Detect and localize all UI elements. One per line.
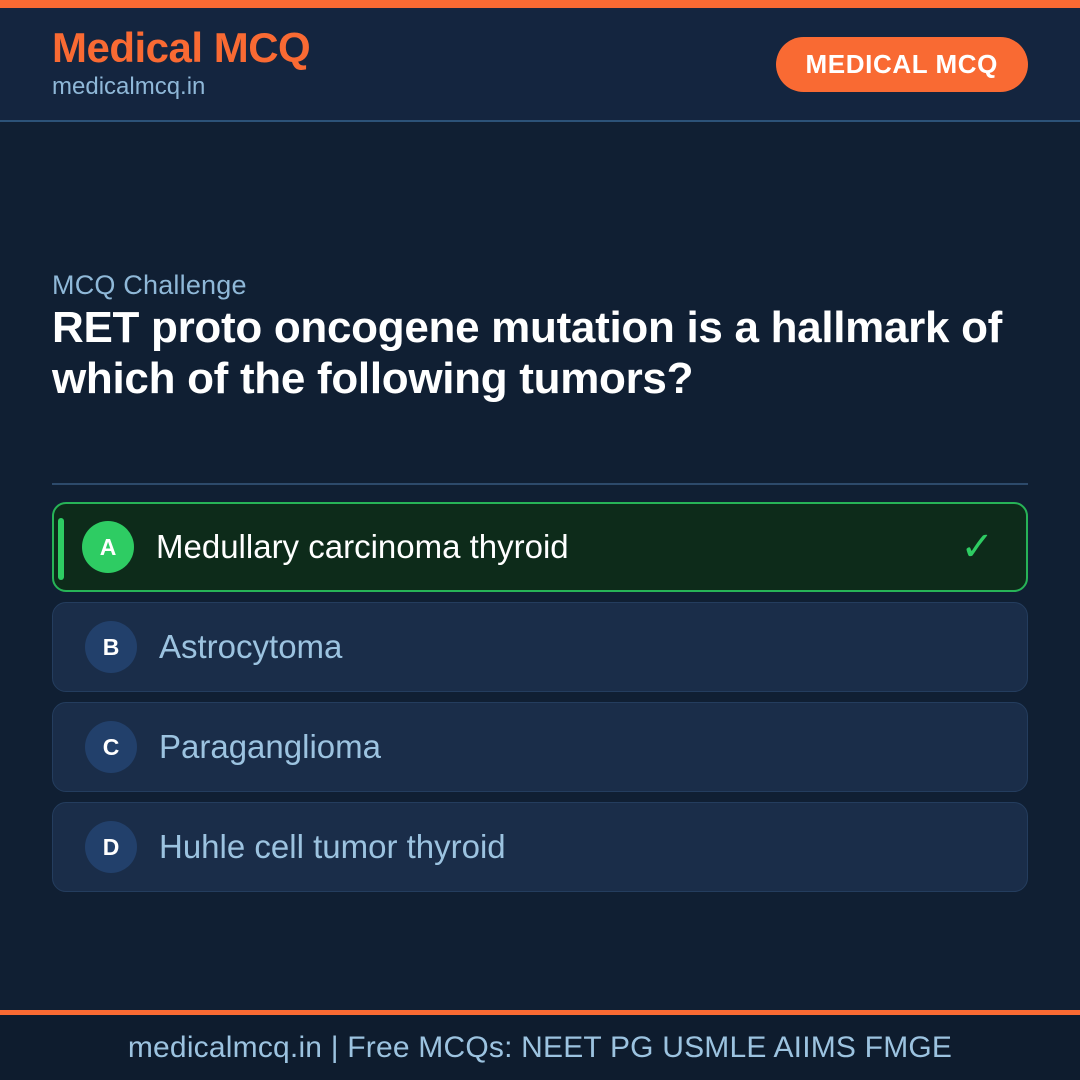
options-list: A Medullary carcinoma thyroid ✓ B Astroc…: [52, 502, 1028, 892]
option-letter-badge: B: [85, 621, 137, 673]
option-row-b[interactable]: B Astrocytoma: [52, 602, 1028, 692]
brand-subtitle: medicalmcq.in: [52, 71, 310, 102]
option-letter-badge: A: [82, 521, 134, 573]
option-row-a[interactable]: A Medullary carcinoma thyroid ✓: [52, 502, 1028, 592]
option-letter-badge: D: [85, 821, 137, 873]
option-label: Astrocytoma: [159, 628, 1027, 666]
brand-block: Medical MCQ medicalmcq.in: [52, 26, 310, 103]
footer-text: medicalmcq.in | Free MCQs: NEET PG USMLE…: [128, 1031, 952, 1065]
option-label: Medullary carcinoma thyroid: [156, 528, 960, 566]
brand-title: Medical MCQ: [52, 26, 310, 70]
question-text: RET proto oncogene mutation is a hallmar…: [52, 302, 1032, 405]
page-footer: medicalmcq.in | Free MCQs: NEET PG USMLE…: [0, 1010, 1080, 1080]
page-header: Medical MCQ medicalmcq.in MEDICAL MCQ: [0, 8, 1080, 122]
option-label: Huhle cell tumor thyroid: [159, 828, 1027, 866]
option-letter-badge: C: [85, 721, 137, 773]
main-content: MCQ Challenge RET proto oncogene mutatio…: [0, 124, 1080, 1010]
option-label: Paraganglioma: [159, 728, 1027, 766]
correct-accent-bar: [58, 518, 64, 580]
option-row-d[interactable]: D Huhle cell tumor thyroid: [52, 802, 1028, 892]
option-row-c[interactable]: C Paraganglioma: [52, 702, 1028, 792]
question-divider: [52, 483, 1028, 485]
eyebrow-label: MCQ Challenge: [52, 270, 247, 301]
header-badge: MEDICAL MCQ: [776, 37, 1028, 92]
check-icon: ✓: [960, 527, 994, 567]
top-accent-rule: [0, 0, 1080, 8]
